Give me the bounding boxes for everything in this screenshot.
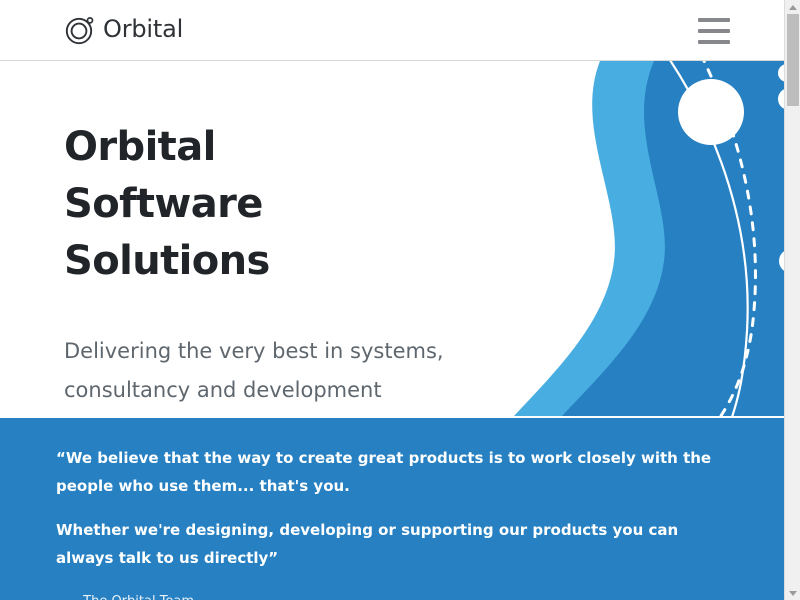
hero-subtitle: Delivering the very best in systems, con… — [64, 290, 484, 410]
orbit-ring-icon — [64, 14, 96, 46]
site-logo[interactable]: Orbital — [64, 14, 183, 46]
quote-paragraph-1: “We believe that the way to create great… — [56, 444, 720, 500]
scroll-up-arrow-icon[interactable] — [785, 0, 800, 14]
menu-bar-1 — [698, 18, 730, 22]
site-header: Orbital — [0, 0, 784, 61]
page-viewport: Orbital — [0, 0, 784, 600]
quote-section: “We believe that the way to create great… — [0, 418, 784, 600]
scroll-down-arrow-icon[interactable] — [785, 586, 800, 600]
logo-text: Orbital — [103, 17, 183, 43]
menu-bar-3 — [698, 40, 730, 44]
hero-copy: Orbital Software Solutions Delivering th… — [64, 61, 534, 410]
browser-page: Orbital — [0, 0, 800, 600]
menu-bar-2 — [698, 29, 730, 33]
quote-attribution: — The Orbital Team — [56, 588, 720, 600]
page-title: Orbital Software Solutions — [64, 61, 424, 290]
scrollbar-thumb[interactable] — [787, 14, 799, 106]
vertical-scrollbar[interactable] — [784, 0, 800, 600]
orbital-planet-illustration — [504, 61, 784, 416]
hero-section: Orbital Software Solutions Delivering th… — [0, 61, 784, 416]
quote-paragraph-2: Whether we're designing, developing or s… — [56, 516, 720, 572]
hamburger-menu-icon[interactable] — [698, 18, 730, 44]
